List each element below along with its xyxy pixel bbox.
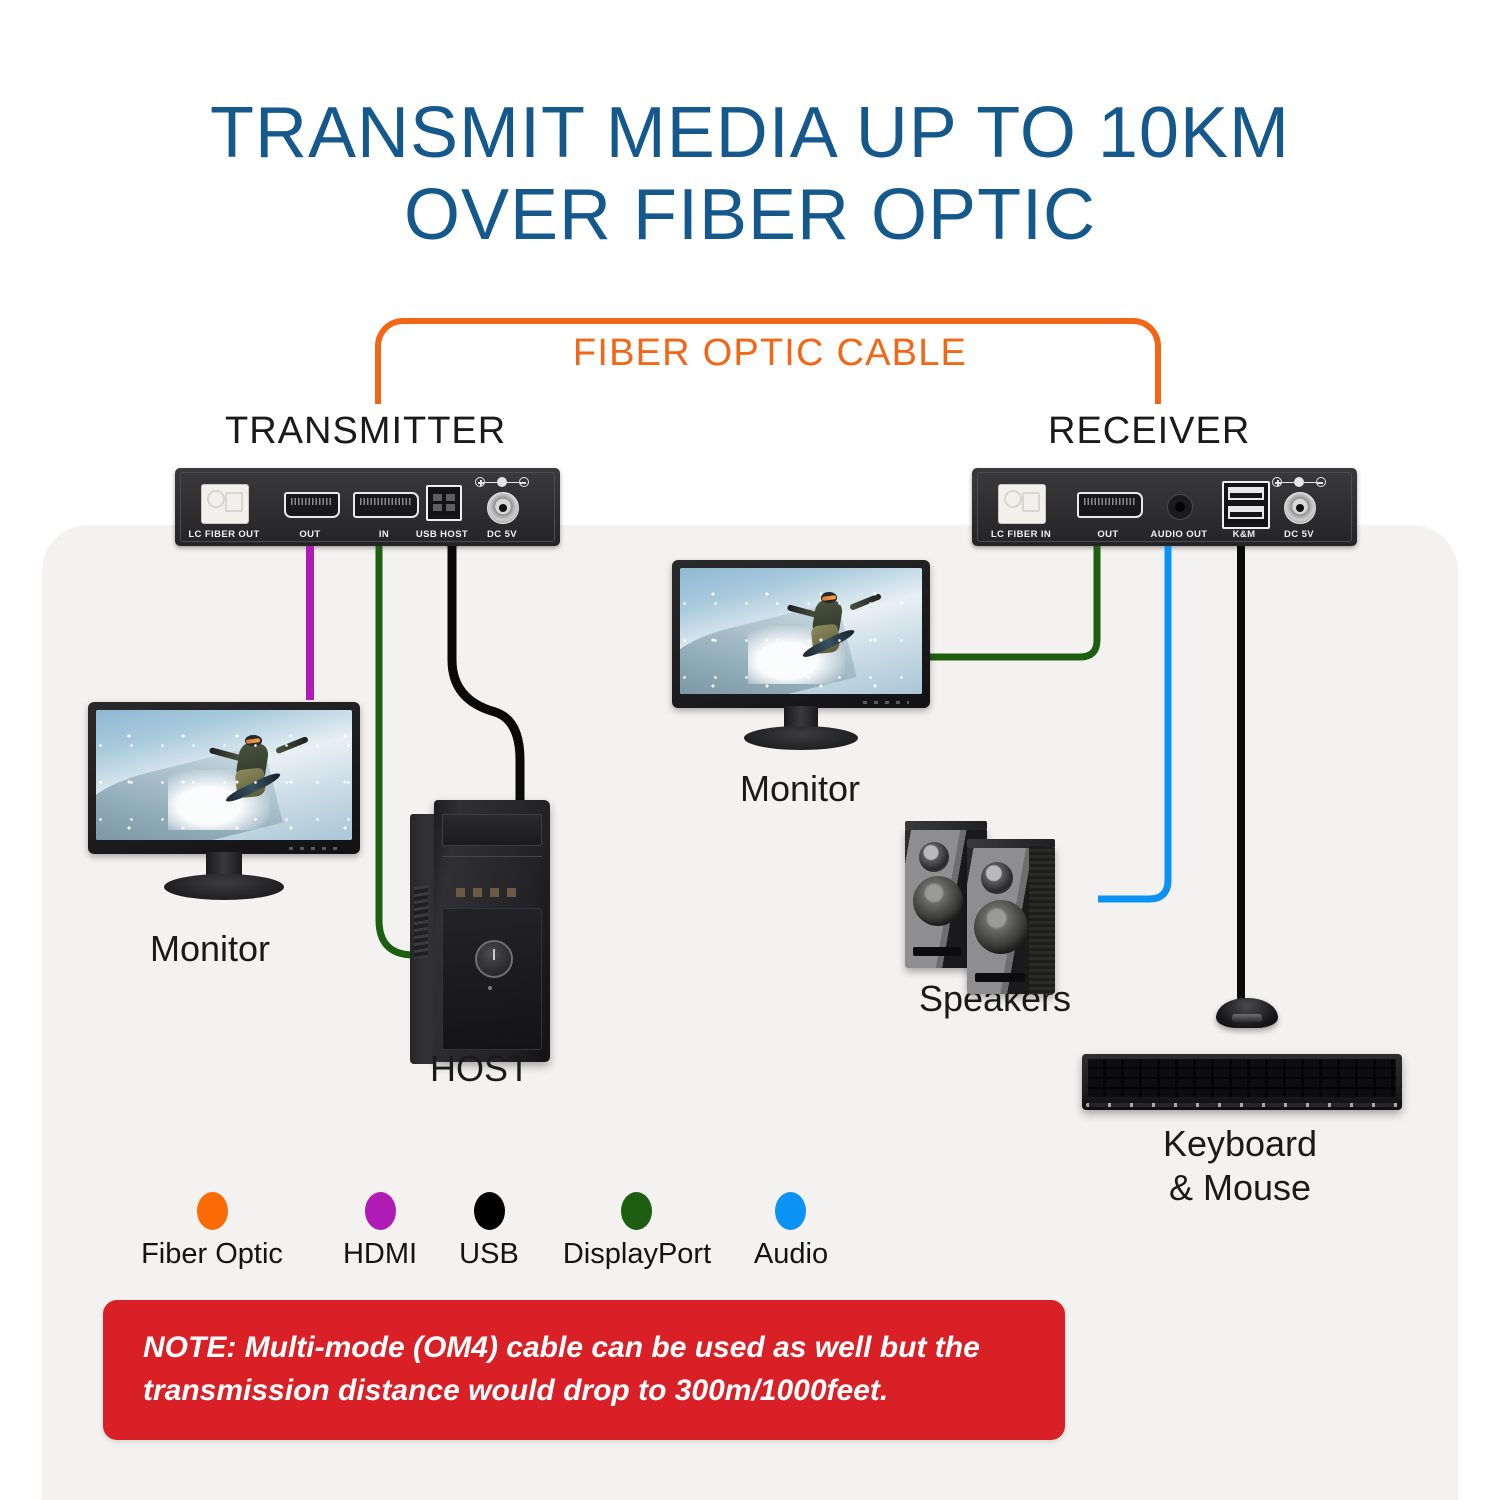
legend-dot-displayport xyxy=(621,1192,652,1230)
legend-label-fiber-optic: Fiber Optic xyxy=(141,1238,283,1271)
legend-dot-usb xyxy=(474,1192,505,1230)
note-banner: NOTE: Multi-mode (OM4) cable can be used… xyxy=(103,1300,1065,1440)
legend-label-audio: Audio xyxy=(754,1238,828,1271)
legend-label-hdmi: HDMI xyxy=(343,1238,417,1271)
legend-dot-audio xyxy=(775,1192,806,1230)
legend-dot-fiber-optic xyxy=(197,1192,228,1230)
legend-label-usb: USB xyxy=(459,1238,519,1271)
speaker-front xyxy=(967,846,1055,994)
legend: Fiber Optic HDMI USB DisplayPort Audio xyxy=(0,0,1500,1500)
legend-dot-hdmi xyxy=(365,1192,396,1230)
note-text: NOTE: Multi-mode (OM4) cable can be used… xyxy=(143,1326,1031,1412)
legend-label-displayport: DisplayPort xyxy=(563,1238,711,1271)
